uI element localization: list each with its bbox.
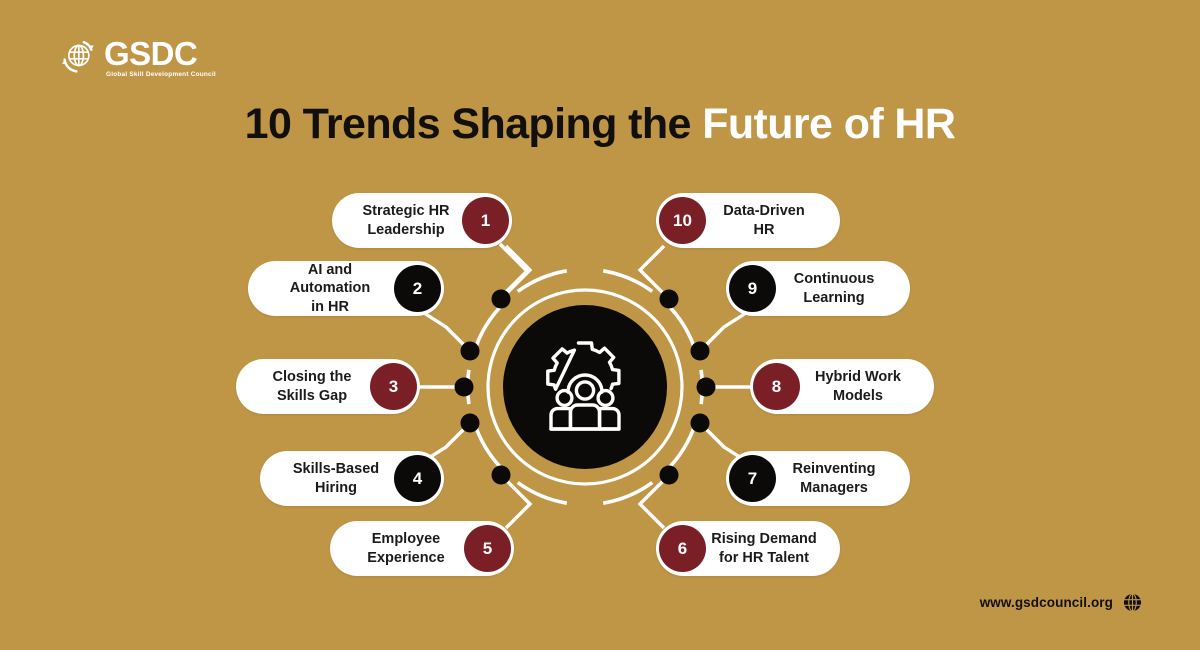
logo-wordmark: GSDC: [104, 38, 216, 69]
trend-pill-1[interactable]: Strategic HR Leadership 1: [332, 193, 512, 248]
ring-node-7: [691, 414, 710, 433]
trend-badge-8[interactable]: 8: [753, 363, 800, 410]
trend-pill-2[interactable]: AI and Automation in HR 2: [248, 261, 444, 316]
trend-pill-9[interactable]: 9 Continuous Learning: [726, 261, 910, 316]
trend-label-4: Skills-Based Hiring: [282, 460, 390, 497]
trend-badge-1[interactable]: 1: [462, 197, 509, 244]
ring-node-9: [691, 342, 710, 361]
trend-label-5: Employee Experience: [352, 530, 460, 567]
trend-badge-7[interactable]: 7: [729, 455, 776, 502]
page-title-part-light: Future of HR: [702, 100, 955, 148]
trend-label-9: Continuous Learning: [780, 270, 888, 307]
trend-badge-6[interactable]: 6: [659, 525, 706, 572]
trend-pill-7[interactable]: 7 Reinventing Managers: [726, 451, 910, 506]
ring-node-2: [461, 342, 480, 361]
logo-subtitle: Global Skill Development Council: [106, 71, 216, 78]
trend-label-7: Reinventing Managers: [780, 460, 888, 497]
ring-node-8: [697, 378, 716, 397]
trend-pill-3[interactable]: Closing the Skills Gap 3: [236, 359, 420, 414]
infographic-canvas: GSDC Global Skill Development Council 10…: [0, 0, 1200, 650]
trend-label-10: Data-Driven HR: [710, 202, 818, 239]
footer-url[interactable]: www.gsdcouncil.org: [980, 595, 1113, 610]
footer: www.gsdcouncil.org: [980, 593, 1142, 612]
page-title: 10 Trends Shaping the Future of HR: [0, 100, 1200, 149]
center-hub: [485, 287, 685, 487]
trend-pill-4[interactable]: Skills-Based Hiring 4: [260, 451, 444, 506]
globe-arrow-icon: [58, 38, 98, 78]
trend-label-3: Closing the Skills Gap: [258, 368, 366, 405]
trend-label-8: Hybrid Work Models: [804, 368, 912, 405]
globe-icon: [1123, 593, 1142, 612]
trend-badge-2[interactable]: 2: [394, 265, 441, 312]
ring-node-4: [461, 414, 480, 433]
ring-node-3: [455, 378, 474, 397]
trend-label-1: Strategic HR Leadership: [354, 202, 458, 239]
trend-badge-10[interactable]: 10: [659, 197, 706, 244]
trend-pill-5[interactable]: Employee Experience 5: [330, 521, 514, 576]
trend-label-6: Rising Demand for HR Talent: [710, 530, 818, 567]
brand-logo: GSDC Global Skill Development Council: [58, 38, 216, 78]
trend-pill-6[interactable]: 6 Rising Demand for HR Talent: [656, 521, 840, 576]
trend-badge-9[interactable]: 9: [729, 265, 776, 312]
page-title-part-dark: 10 Trends Shaping the: [245, 100, 691, 148]
gear-people-hr-icon: [537, 337, 633, 437]
trend-pill-8[interactable]: 8 Hybrid Work Models: [750, 359, 934, 414]
trend-label-2: AI and Automation in HR: [270, 261, 390, 317]
trend-badge-3[interactable]: 3: [370, 363, 417, 410]
trend-badge-5[interactable]: 5: [464, 525, 511, 572]
trend-badge-4[interactable]: 4: [394, 455, 441, 502]
trend-pill-10[interactable]: 10 Data-Driven HR: [656, 193, 840, 248]
